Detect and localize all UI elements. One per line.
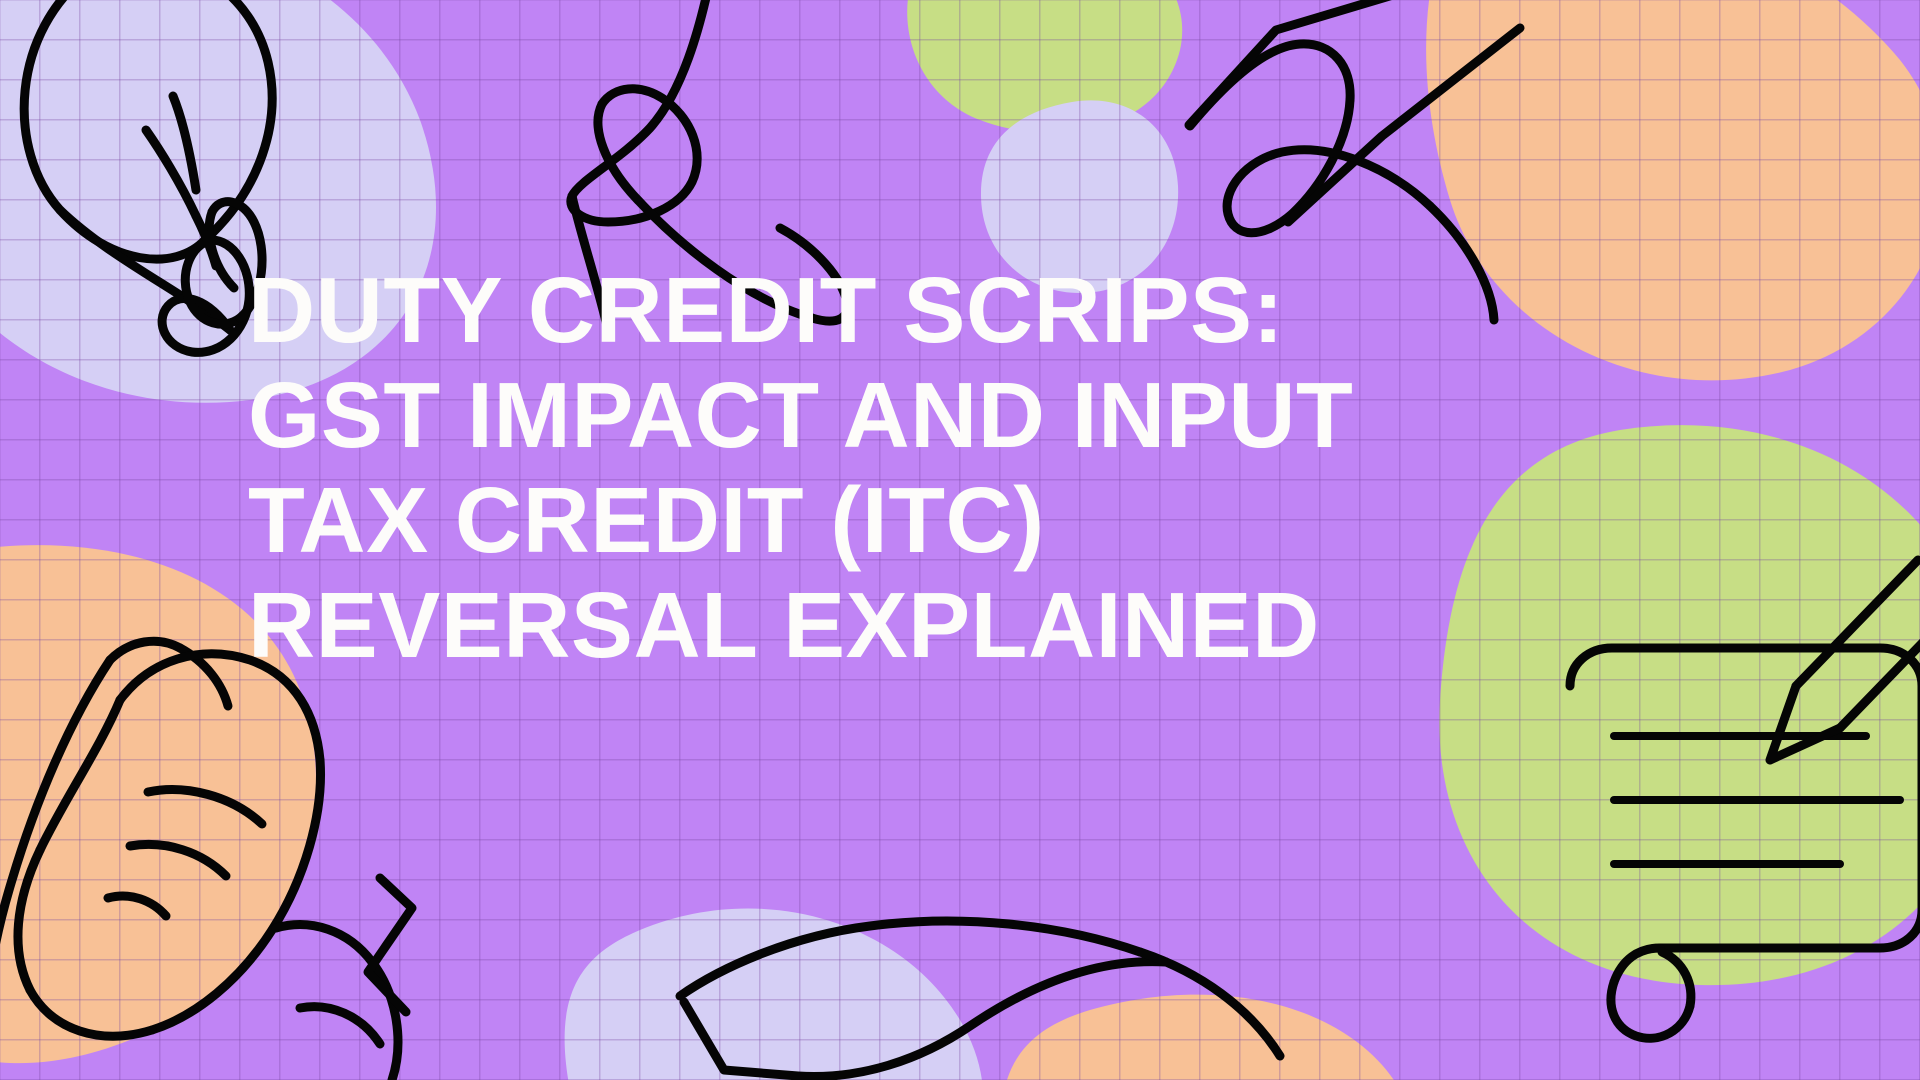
title-banner: Duty Credit Scrips: GST Impact and Input… [0,0,1920,1080]
page-title: Duty Credit Scrips: GST Impact and Input… [248,258,1668,678]
open-book-icon [0,641,398,1080]
lightbulb-icon [24,0,272,352]
pencil-icon [1770,560,1920,760]
zigzag-icon [368,878,1280,1077]
speech-bubble-icon [1570,648,1920,1038]
title-block: Duty Credit Scrips: GST Impact and Input… [248,258,1668,678]
